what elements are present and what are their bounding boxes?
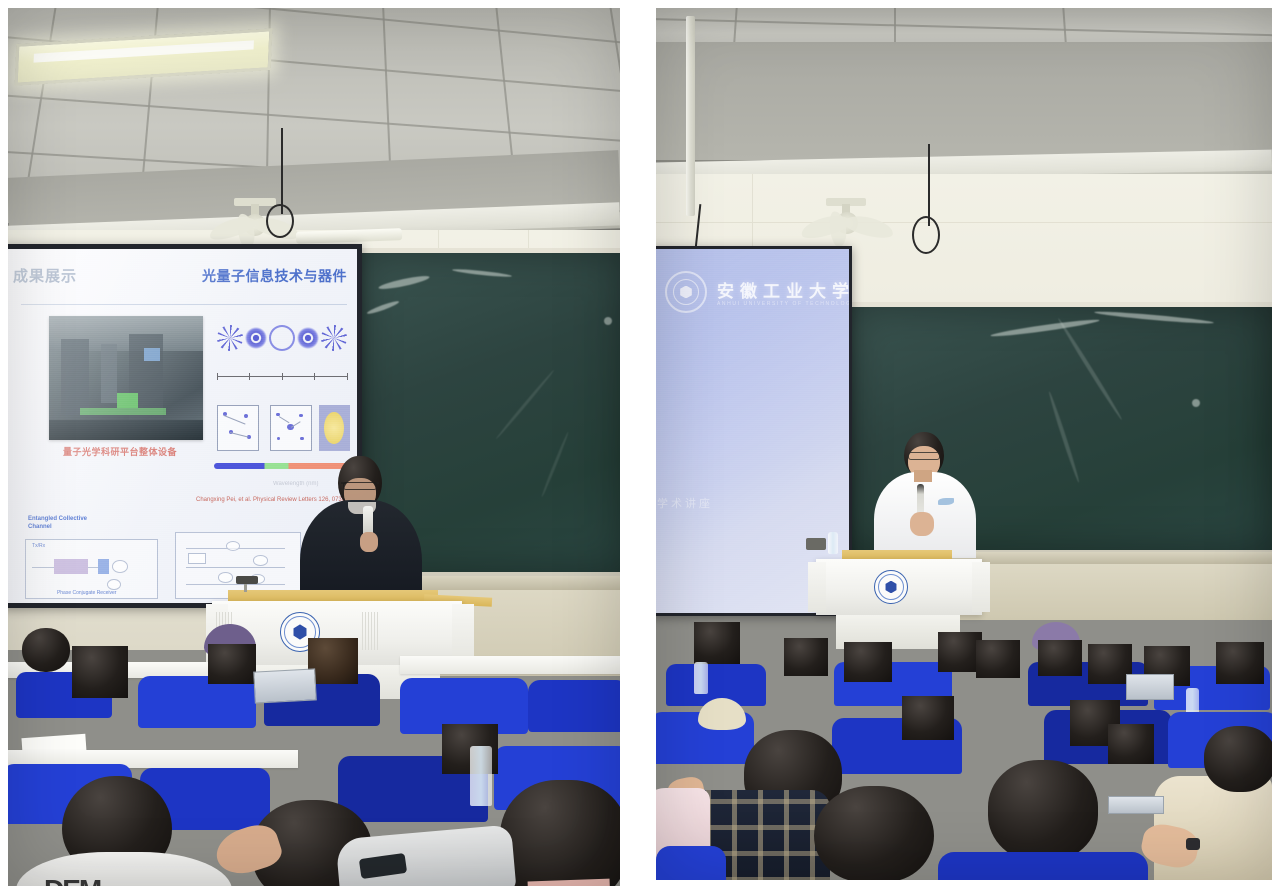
student-head [694,622,740,664]
lectern-monitor [236,576,258,584]
lectern-monitor [806,538,826,550]
student-head [72,646,128,698]
support-pole-right [686,16,695,216]
chalk-mark [604,317,612,325]
photo-composite: 成果展示 光量子信息技术与器件 量子光学科研平台整体设备 [0,0,1280,895]
shirt-logo-icon [938,498,954,505]
lectern-emblem-right [874,570,908,604]
student-head-foreground [814,786,934,880]
student-head [902,696,954,740]
presenter-glasses [908,452,940,460]
student-head [1216,642,1264,684]
chalk-mark [1057,317,1124,421]
emblem-hexagon-icon [885,581,897,594]
chalk-mark [1094,310,1214,325]
water-bottle [470,746,492,806]
student-head-foreground [1204,726,1272,792]
cable-loop-left [266,204,294,238]
seat-foreground [938,852,1148,880]
chalk-mark [1047,391,1080,484]
student-head [976,640,1020,678]
student-head [22,628,70,672]
photo-right[interactable]: 安徽工业大学 ANHUI UNIVERSITY OF TECHNOLOGY 学术… [656,8,1272,880]
water-bottle [694,662,708,694]
student-head [784,638,828,676]
student-head-foreground [988,760,1098,862]
chalk-mark [540,431,569,497]
cable-loop-right [912,216,940,254]
audience-right [656,600,1272,880]
wristwatch [1186,838,1200,850]
laptop [1126,674,1174,700]
chalk-mark [378,274,430,292]
student-head [844,642,892,682]
chalk-mark [495,369,555,440]
hanging-cable-left [281,128,283,214]
chalk-mark [366,299,400,315]
tshirt-graphic: DEM [44,874,164,886]
student-head [1108,724,1154,764]
desk-row [400,656,620,674]
chalk-mark [1192,399,1200,407]
presenter-hands [910,512,934,536]
presenter-glasses [343,482,377,490]
presenter-neck [914,470,932,482]
seat [528,680,620,732]
chalk-mark [990,317,1100,338]
audience-left: DEM [8,628,620,886]
seat-foreground [656,846,726,880]
chalk-mark [452,268,512,278]
laptop [1108,796,1164,814]
ceiling-soffit-right [656,42,1272,162]
student-head [208,644,256,684]
presenter-hand [360,532,378,552]
photo-left[interactable]: 成果展示 光量子信息技术与器件 量子光学科研平台整体设备 [8,8,620,886]
student-head-foreground [500,780,620,886]
laptop [253,668,317,703]
student-head [1038,640,1082,676]
water-bottle-on-lectern [828,532,838,554]
hanging-cable-right [928,144,930,226]
